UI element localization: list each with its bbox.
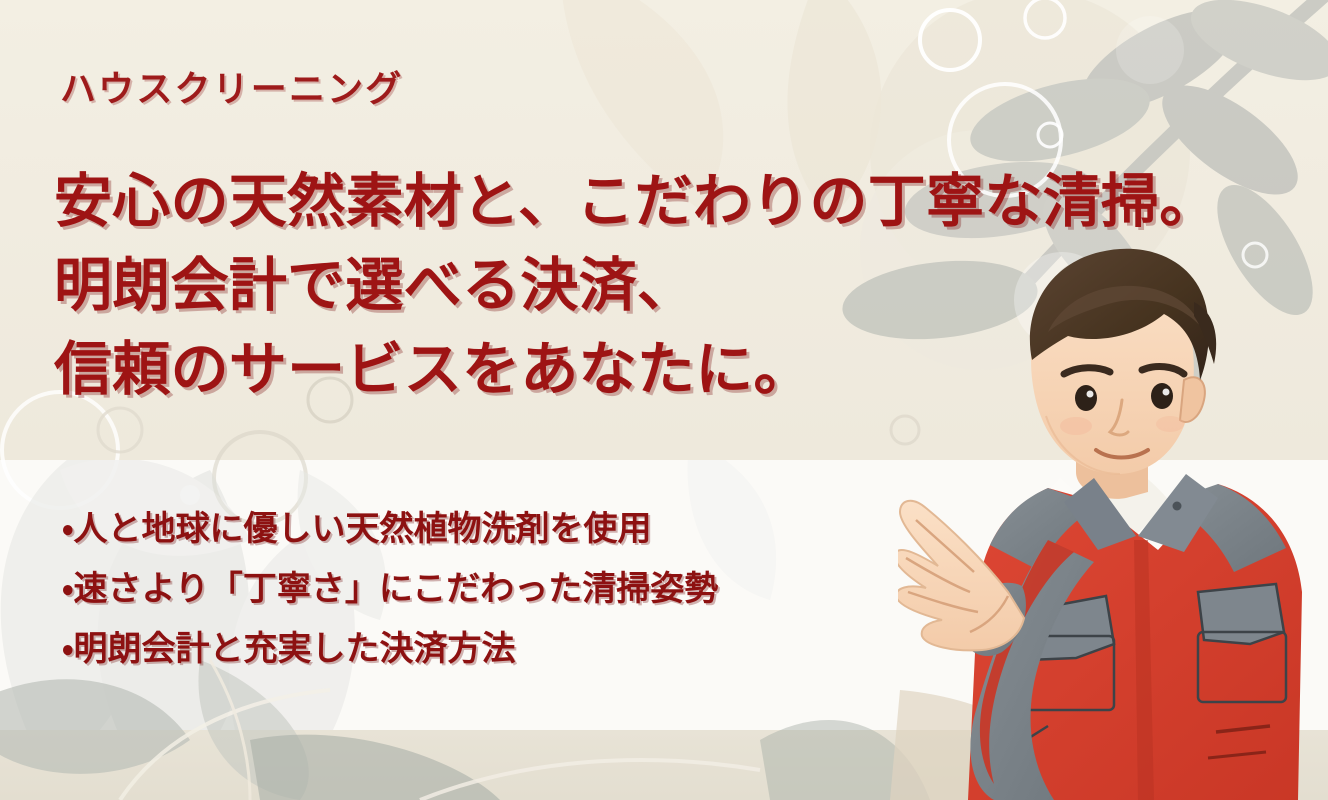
list-item: ・速さより「丁寧さ」にこだわった清掃姿勢 xyxy=(62,560,718,620)
house-cleaning-banner: ハウスクリーニング 安心の天然素材と、こだわりの丁寧な清掃。 明朗会計で選べる決… xyxy=(0,0,1328,800)
cleaning-staff-illustration xyxy=(898,240,1328,800)
eyebrow-label: ハウスクリーニング xyxy=(60,60,403,112)
list-item: ・人と地球に優しい天然植物洗剤を使用 xyxy=(62,500,718,560)
feature-bullet-list: ・人と地球に優しい天然植物洗剤を使用 ・速さより「丁寧さ」にこだわった清掃姿勢 … xyxy=(62,500,718,679)
list-item: ・明朗会計と充実した決済方法 xyxy=(62,620,718,680)
headline-line-1: 安心の天然素材と、こだわりの丁寧な清掃。 xyxy=(54,160,1217,244)
